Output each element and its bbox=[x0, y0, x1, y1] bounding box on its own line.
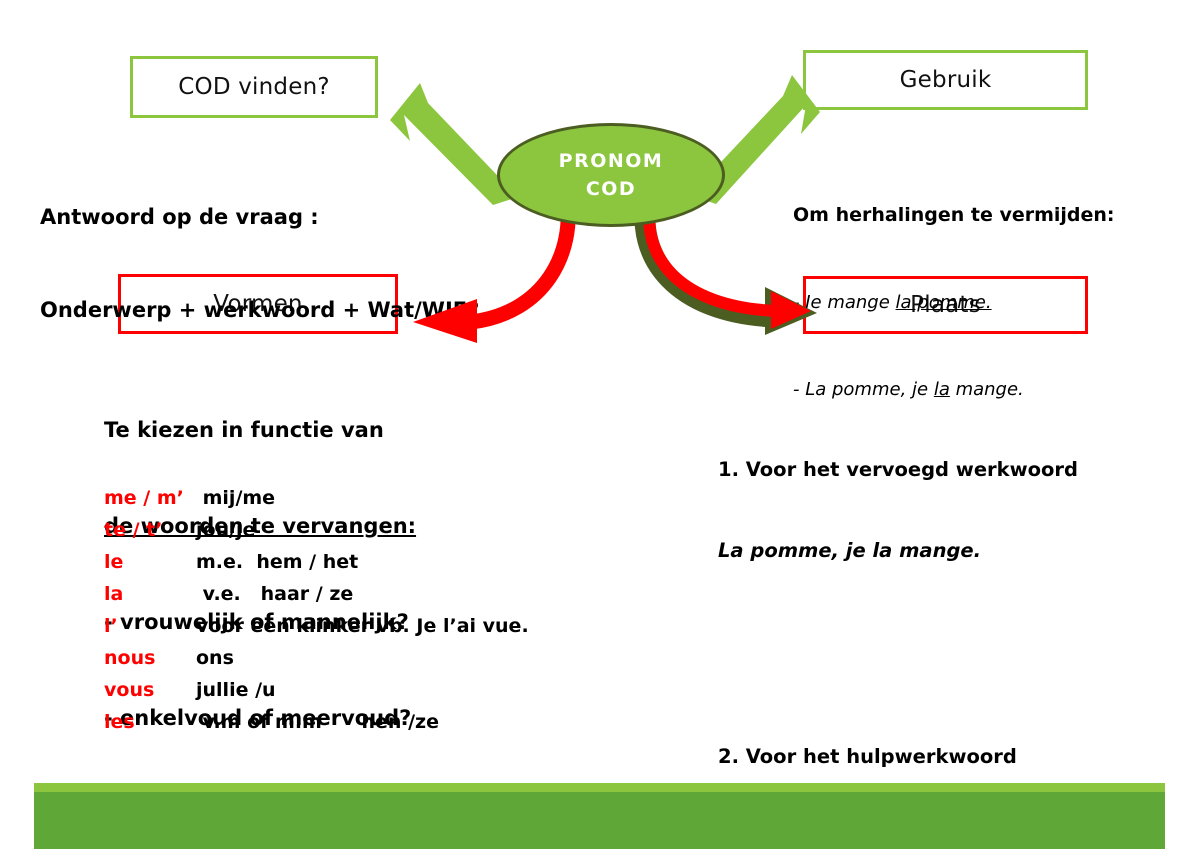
pronoun-form: vous bbox=[104, 679, 196, 711]
bottom-bar-light-stripe bbox=[34, 783, 1165, 792]
bottom-decorative-bar bbox=[34, 783, 1165, 849]
vormen-pronoun-table: me / m’ mij/me te / t’ jou/je le m.e. he… bbox=[104, 487, 529, 743]
box-cod-vinden-label: COD vinden? bbox=[178, 74, 330, 100]
plaats-rules: 1. Voor het vervoegd werkwoord La pomme,… bbox=[718, 348, 1103, 849]
table-row: le m.e. hem / het bbox=[104, 551, 529, 583]
pronoun-form: me / m’ bbox=[104, 487, 196, 519]
poster-canvas: COD vinden? Gebruik Vormen Plaats Antwoo… bbox=[0, 0, 1200, 849]
pronoun-meaning: v.e. haar / ze bbox=[196, 583, 529, 615]
table-row: la v.e. haar / ze bbox=[104, 583, 529, 615]
pronoun-form: la bbox=[104, 583, 196, 615]
pronoun-meaning: voor een klinker vb. Je l’ai vue. bbox=[196, 615, 529, 647]
plaats-rule-1-example: La pomme, je la mange. bbox=[718, 537, 1103, 564]
bottom-bar-dark-stripe bbox=[34, 792, 1165, 849]
table-row: vous jullie /u bbox=[104, 679, 529, 711]
pronoun-meaning: ons bbox=[196, 647, 529, 679]
plaats-rule-1-text: 1. Voor het vervoegd werkwoord bbox=[718, 456, 1103, 483]
center-node-line-2: COD bbox=[586, 175, 636, 203]
pronoun-form: nous bbox=[104, 647, 196, 679]
pronoun-form: l’ bbox=[104, 615, 196, 647]
table-row: les v.m of m.m hen /ze bbox=[104, 711, 529, 743]
table-row: nous ons bbox=[104, 647, 529, 679]
plaats-rule-1: 1. Voor het vervoegd werkwoord La pomme,… bbox=[718, 402, 1103, 618]
pronoun-form: les bbox=[104, 711, 196, 743]
vormen-intro-line-1: Te kiezen in functie van bbox=[104, 414, 416, 446]
pronoun-meaning: jou/je bbox=[196, 519, 529, 551]
gebruik-example-1-underlined: la pomme. bbox=[896, 292, 992, 313]
gebruik-example-1: - Je mange la pomme. bbox=[793, 288, 1115, 317]
box-gebruik-label: Gebruik bbox=[900, 67, 992, 93]
pronoun-form: le bbox=[104, 551, 196, 583]
table-row: me / m’ mij/me bbox=[104, 487, 529, 519]
pronoun-meaning: m.e. hem / het bbox=[196, 551, 529, 583]
center-node-line-1: PRONOM bbox=[559, 147, 664, 175]
table-row: te / t’ jou/je bbox=[104, 519, 529, 551]
pronoun-form: te / t’ bbox=[104, 519, 196, 551]
pronoun-meaning: v.m of m.m hen /ze bbox=[196, 711, 529, 743]
pronoun-meaning: mij/me bbox=[196, 487, 529, 519]
center-node-pronom-cod[interactable]: PRONOM COD bbox=[497, 123, 725, 227]
box-cod-vinden[interactable]: COD vinden? bbox=[130, 56, 378, 118]
pronoun-meaning: jullie /u bbox=[196, 679, 529, 711]
gebruik-heading: Om herhalingen te vermijden: bbox=[793, 201, 1115, 230]
plaats-rule-2-text: 2. Voor het hulpwerkwoord bbox=[718, 743, 1103, 770]
box-gebruik[interactable]: Gebruik bbox=[803, 50, 1088, 110]
table-row: l’ voor een klinker vb. Je l’ai vue. bbox=[104, 615, 529, 647]
